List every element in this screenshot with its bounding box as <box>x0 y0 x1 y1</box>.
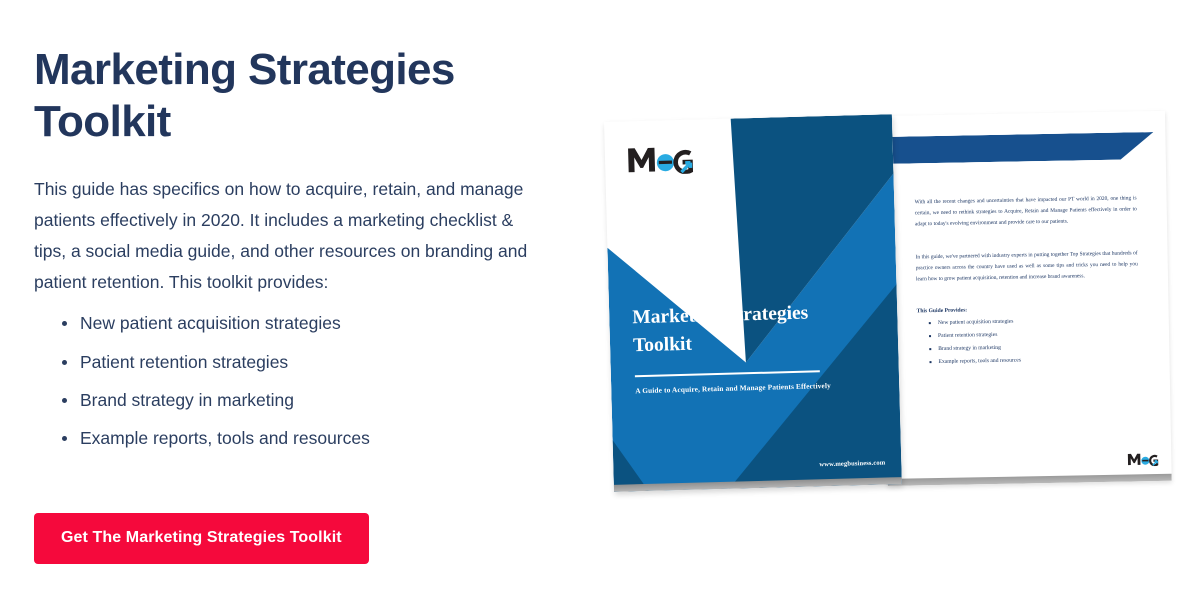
benefits-list: New patient acquisition strategies Patie… <box>34 312 554 465</box>
promo-text-column: Marketing Strategies Toolkit This guide … <box>34 44 554 465</box>
list-item: New patient acquisition strategies <box>62 312 554 350</box>
get-toolkit-button[interactable]: Get The Marketing Strategies Toolkit <box>34 513 369 564</box>
list-item: Example reports, tools and resources <box>62 427 554 465</box>
list-item: Brand strategy in marketing <box>62 389 554 427</box>
toolkit-promo-section: Marketing Strategies Toolkit This guide … <box>0 0 1188 609</box>
list-item: Patient retention strategies <box>62 351 554 389</box>
inner-paragraph-1: With all the recent changes and uncertai… <box>914 193 1137 230</box>
meg-logo-icon <box>1127 452 1158 467</box>
inner-benefits-list: New patient acquisition strategies Patie… <box>929 316 1130 371</box>
inner-paragraph-2: In this guide, we've partnered with indu… <box>916 248 1139 285</box>
brochure-front-cover: Marketing Strategies Toolkit A Guide to … <box>604 114 902 492</box>
introduction-banner-label: Introduction <box>903 119 968 132</box>
brochure-preview-image: Introduction With all the recent changes… <box>598 108 1168 503</box>
cover-title: Marketing Strategies Toolkit <box>632 298 863 360</box>
introduction-banner <box>881 132 1154 164</box>
page-title: Marketing Strategies Toolkit <box>34 44 504 148</box>
this-guide-provides-label: This Guide Provides: <box>917 307 968 314</box>
promo-description: This guide has specifics on how to acqui… <box>34 148 544 299</box>
meg-logo-icon <box>627 144 694 176</box>
list-item: Example reports, tools and resources <box>929 355 1129 372</box>
page-bottom-edge <box>888 474 1172 486</box>
brochure-inner-page: Introduction With all the recent changes… <box>881 111 1172 486</box>
